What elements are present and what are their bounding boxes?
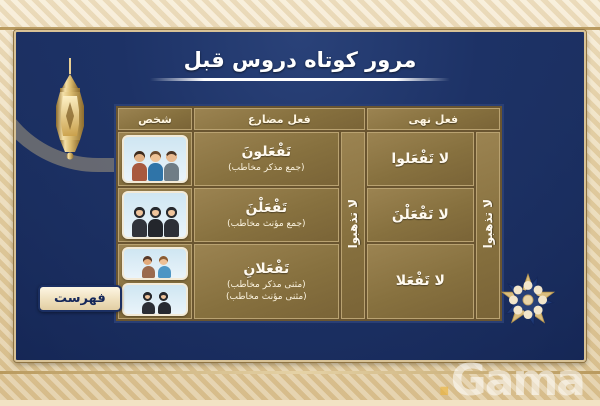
conjugation-table-wrapper: فعل نهی فعل مضارع شخص لا تذهبوا لا تَفْع… bbox=[114, 104, 504, 316]
male-figure-icon bbox=[156, 256, 171, 278]
male-figure-icon bbox=[132, 151, 147, 181]
cell-prohibition-2: لا تَفْعَلْنَ bbox=[367, 188, 474, 242]
male-figure-icon bbox=[164, 151, 179, 181]
female-figure-icon bbox=[140, 292, 155, 314]
table-header-row: فعل نهی فعل مضارع شخص bbox=[118, 108, 500, 130]
spine-prohibition-label: لا تذهبوا bbox=[481, 199, 495, 248]
header-prohibition: فعل نهی bbox=[367, 108, 500, 130]
present-note-2a: (جمع مؤنث مخاطب) bbox=[198, 218, 335, 230]
present-verb-2: تَفْعَلْنَ bbox=[198, 199, 335, 218]
present-note-1a: (جمع مذکر مخاطب) bbox=[198, 162, 335, 174]
male-figure-icon bbox=[148, 151, 163, 181]
index-button[interactable]: فهرست bbox=[38, 285, 122, 312]
prohibition-verb-2: لا تَفْعَلْنَ bbox=[371, 206, 470, 225]
present-note-3a: (مثنی مذکر مخاطب) bbox=[198, 279, 335, 291]
cell-person-3 bbox=[118, 244, 192, 319]
prohibition-verb-3: لا تَفْعَلا bbox=[371, 272, 470, 291]
rosette-glyph-icon bbox=[500, 272, 556, 328]
cell-prohibition-1: لا تَفْعَلوا bbox=[367, 132, 474, 186]
three-men-photo-icon bbox=[122, 135, 188, 183]
cell-present-1: تَفْعَلونَ (جمع مذکر مخاطب) bbox=[194, 132, 339, 186]
page-title: مرور کوتاه دروس قبل bbox=[170, 48, 431, 72]
present-verb-3: تَفْعَلانِ bbox=[198, 260, 335, 279]
table-row: لا تذهبوا لا تَفْعَلوا لا تذهبوا تَفْعَل… bbox=[118, 132, 500, 186]
cell-present-2: تَفْعَلْنَ (جمع مؤنث مخاطب) bbox=[194, 188, 339, 242]
female-figure-icon bbox=[148, 207, 163, 237]
title-underline bbox=[150, 78, 450, 81]
cell-person-1 bbox=[118, 132, 192, 186]
female-figure-icon bbox=[164, 207, 179, 237]
slide-stage: مرور کوتاه دروس قبل فعل نهی فعل مضارع شخ… bbox=[14, 30, 586, 362]
conjugation-table: فعل نهی فعل مضارع شخص لا تذهبوا لا تَفْع… bbox=[114, 104, 504, 323]
spine-present-cell: لا تذهبوا bbox=[341, 132, 365, 319]
islamic-star-rosette-icon bbox=[500, 272, 556, 328]
table-row: لا تَفْعَلا تَفْعَلانِ (مثنی مذکر مخاطب)… bbox=[118, 244, 500, 319]
header-person: شخص bbox=[118, 108, 192, 130]
female-figure-icon bbox=[132, 207, 147, 237]
present-note-3b: (مثنی مؤنث مخاطب) bbox=[198, 291, 335, 303]
spine-prohibition-cell: لا تذهبوا bbox=[476, 132, 500, 319]
prohibition-verb-1: لا تَفْعَلوا bbox=[371, 150, 470, 169]
frame-bottom-divider bbox=[0, 371, 600, 374]
male-figure-icon bbox=[140, 256, 155, 278]
header-present: فعل مضارع bbox=[194, 108, 365, 130]
cell-person-2 bbox=[118, 188, 192, 242]
title-block: مرور کوتاه دروس قبل bbox=[16, 48, 584, 81]
two-women-photo-icon bbox=[122, 283, 188, 316]
spine-present-label: لا تذهبوا bbox=[346, 199, 360, 248]
table-row: لا تَفْعَلْنَ تَفْعَلْنَ (جمع مؤنث مخاطب… bbox=[118, 188, 500, 242]
three-women-photo-icon bbox=[122, 191, 188, 239]
two-men-photo-icon bbox=[122, 247, 188, 280]
present-verb-1: تَفْعَلونَ bbox=[198, 143, 335, 162]
cell-present-3: تَفْعَلانِ (مثنی مذکر مخاطب) (مثنی مؤنث … bbox=[194, 244, 339, 319]
cell-prohibition-3: لا تَفْعَلا bbox=[367, 244, 474, 319]
female-figure-icon bbox=[156, 292, 171, 314]
